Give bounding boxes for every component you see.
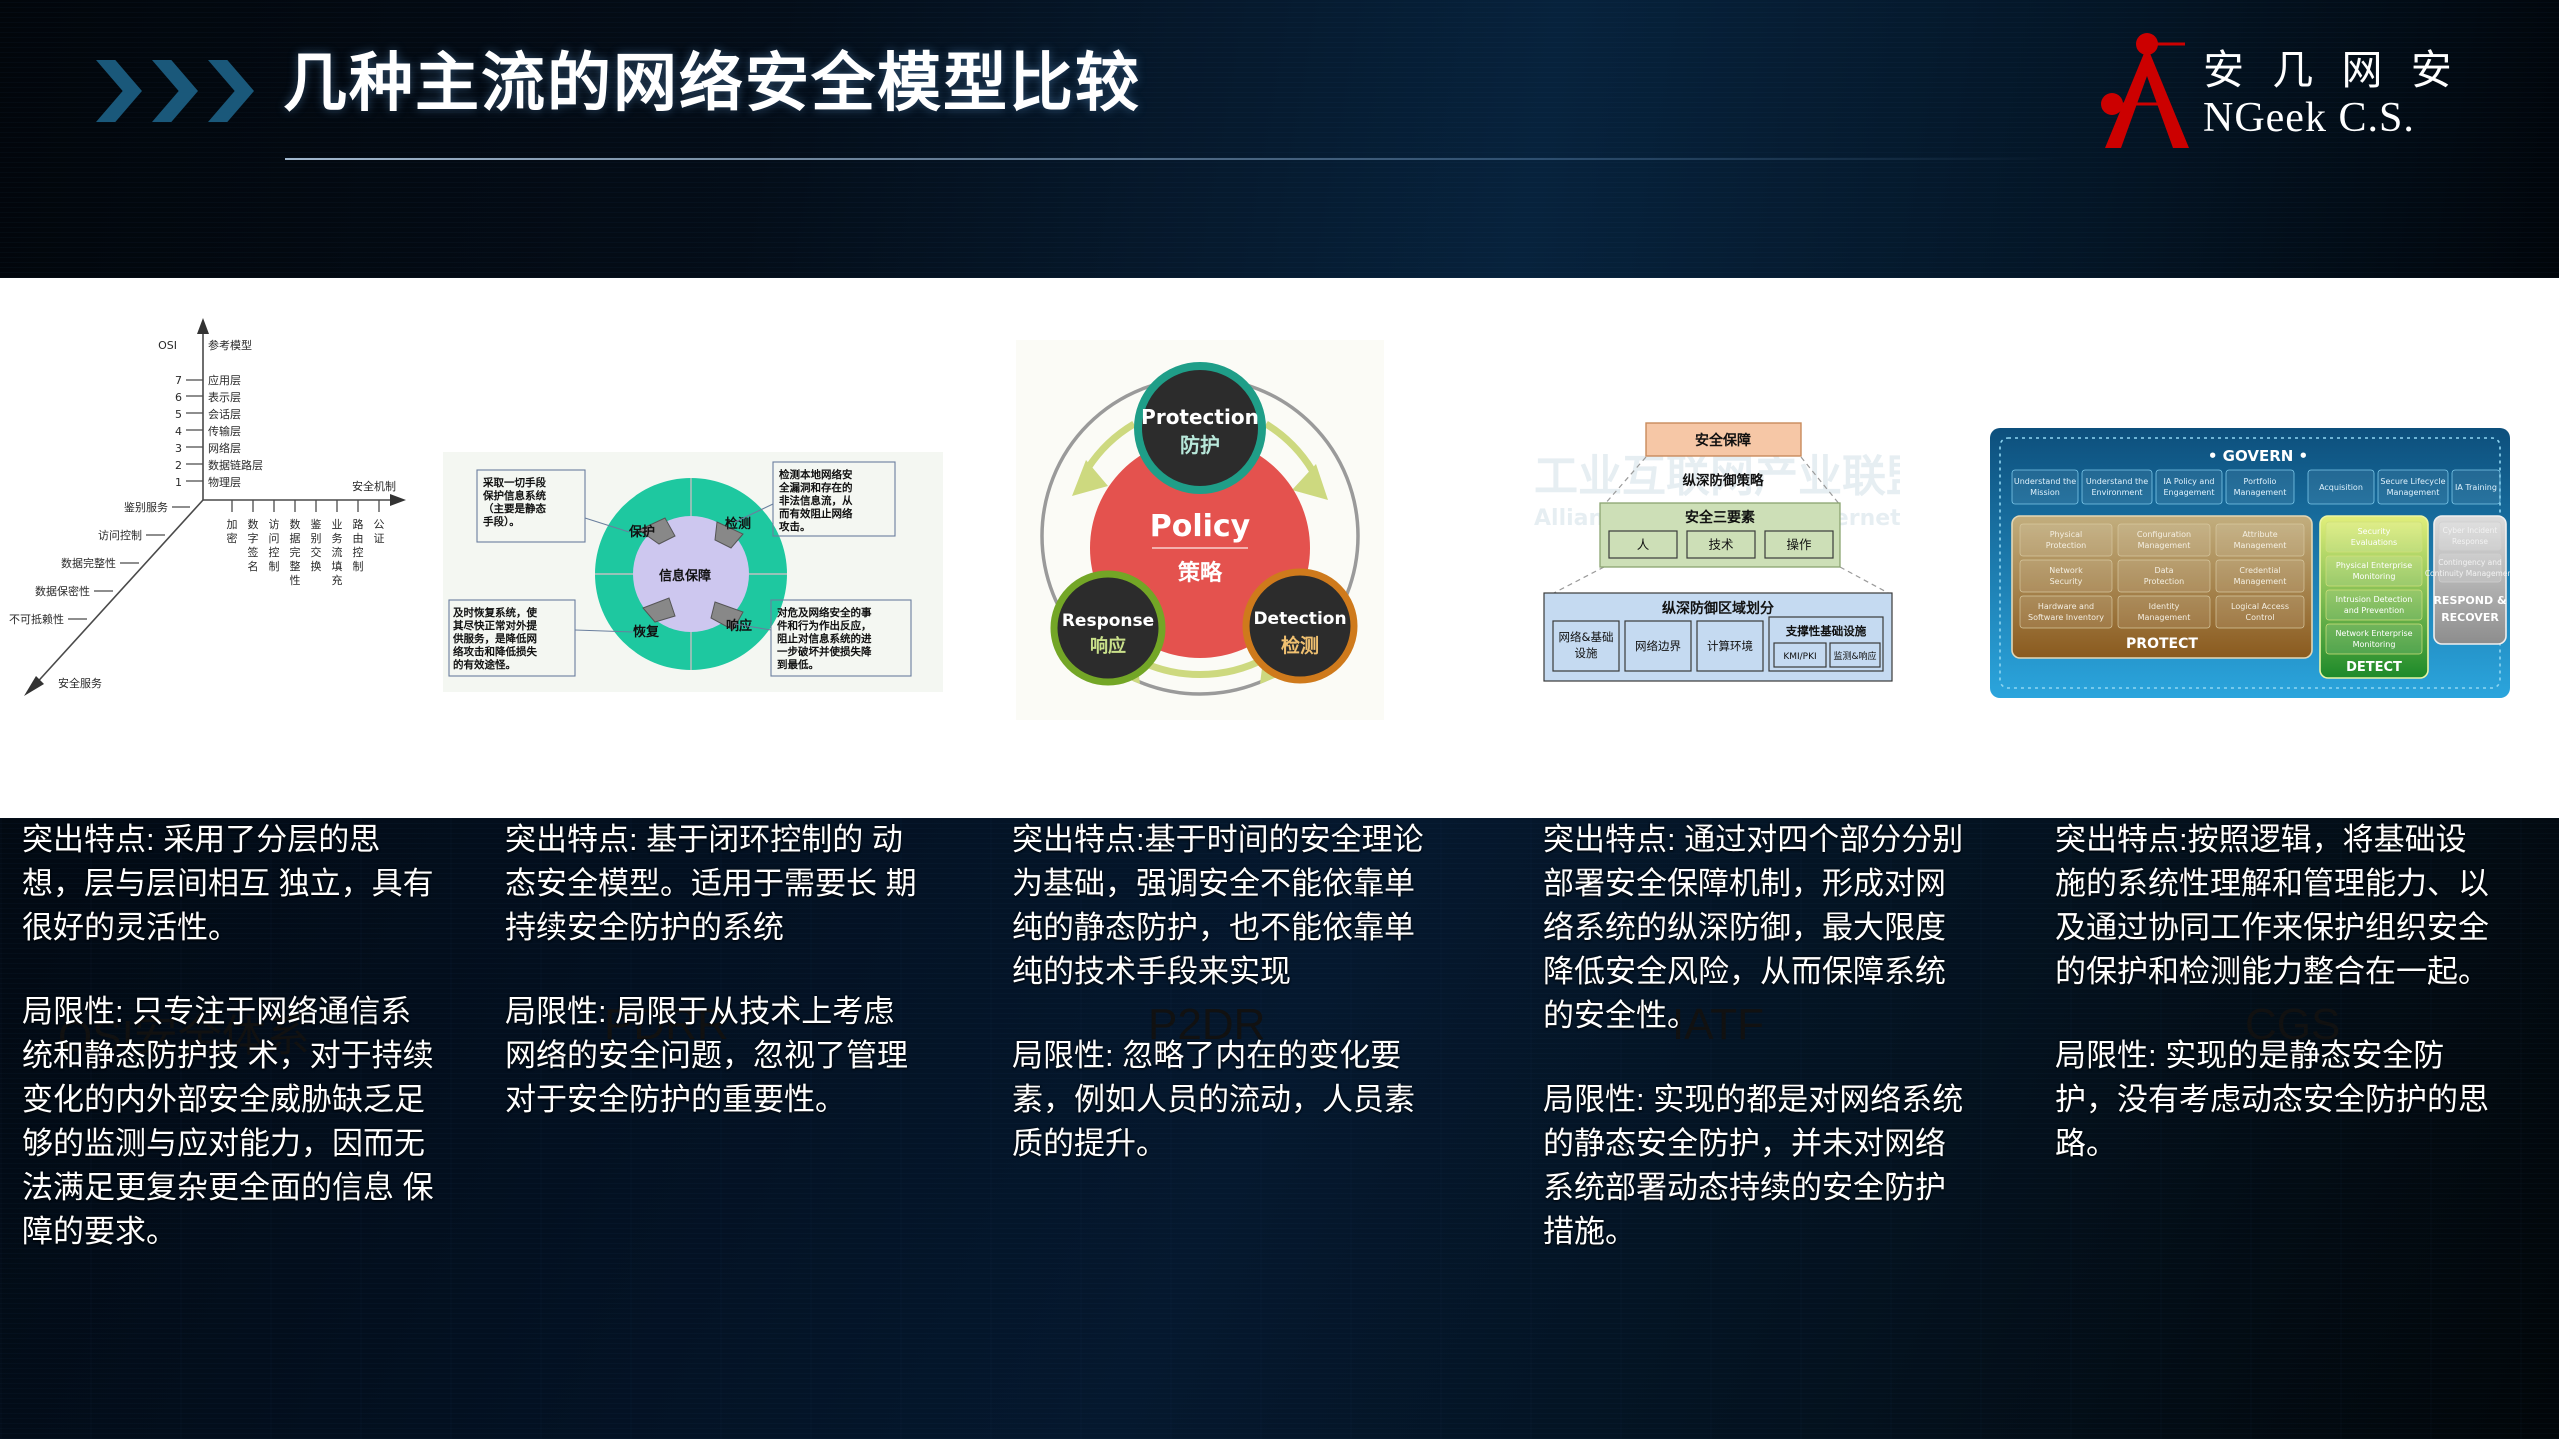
svg-text:安全三要素: 安全三要素: [1685, 509, 1755, 526]
svg-text:的有效途怪。: 的有效途怪。: [453, 658, 516, 671]
svg-text:交: 交: [311, 545, 322, 559]
iatf-diagram: 工业互联网产业联盟 Alliance of Industrial Interne…: [1520, 405, 1900, 690]
svg-text:全漏洞和存在的: 全漏洞和存在的: [778, 481, 853, 494]
svg-text:应用层: 应用层: [208, 373, 241, 387]
diagrams-panel: OSI 参考模型 7应用层 6表示层 5会话层 4传输层 3网络层 2数据链路层…: [0, 278, 2559, 818]
svg-text:Network Enterprise: Network Enterprise: [2335, 629, 2412, 638]
svg-text:3: 3: [175, 442, 182, 455]
p2dr-highlight: 突出特点:基于时间的安全理论为基础，强调安全不能依靠单纯的静态防护，也不能依靠单…: [1012, 818, 1444, 994]
svg-text:检测: 检测: [1281, 634, 1319, 657]
svg-text:整: 整: [290, 559, 301, 573]
svg-text:手段）。: 手段）。: [483, 515, 520, 528]
svg-text:Management: Management: [2234, 577, 2287, 586]
svg-text:纵深防御区域划分: 纵深防御区域划分: [1662, 600, 1774, 617]
svg-text:响应: 响应: [1090, 635, 1126, 657]
svg-text:阻止对信息系统的进: 阻止对信息系统的进: [777, 632, 872, 645]
svg-text:恢复: 恢复: [633, 624, 660, 640]
svg-text:及时恢复系统，使: 及时恢复系统，使: [453, 606, 537, 619]
svg-text:Data: Data: [2154, 566, 2173, 575]
svg-text:Evaluations: Evaluations: [2351, 538, 2397, 547]
svg-text:数据链路层: 数据链路层: [208, 458, 263, 472]
svg-text:防护: 防护: [1180, 433, 1220, 457]
figure-pdrr-model: 保护 检测 恢复 响应 信息保障 采取一切手段保护信: [443, 452, 943, 692]
svg-text:名: 名: [248, 559, 259, 573]
svg-text:安全服务: 安全服务: [58, 676, 102, 690]
svg-text:Credential: Credential: [2239, 566, 2280, 575]
svg-text:纵深防御策略: 纵深防御策略: [1683, 472, 1764, 489]
svg-text:访问控制: 访问控制: [98, 528, 142, 542]
svg-text:Management: Management: [2387, 488, 2440, 497]
svg-text:6: 6: [175, 391, 182, 404]
pdrr-diagram: 保护 检测 恢复 响应 信息保障 采取一切手段保护信: [443, 452, 943, 692]
svg-text:Environment: Environment: [2091, 488, 2142, 497]
svg-text:Monitoring: Monitoring: [2353, 640, 2396, 649]
svg-text:会话层: 会话层: [208, 408, 241, 421]
svg-text:网络边界: 网络边界: [1635, 639, 1681, 653]
svg-text:Understand the: Understand the: [2086, 477, 2148, 486]
svg-text:计算环境: 计算环境: [1707, 639, 1753, 653]
svg-text:网络层: 网络层: [208, 441, 241, 455]
svg-text:Monitoring: Monitoring: [2353, 572, 2396, 581]
svg-text:鉴别服务: 鉴别服务: [124, 501, 168, 514]
p2dr-diagram: Protection 防护 Response 响应 Detection 检测 P…: [1016, 340, 1384, 720]
svg-text:RESPOND &: RESPOND &: [2433, 594, 2506, 607]
svg-text:证: 证: [374, 532, 385, 545]
description-pdrr: 突出特点: 基于闭环控制的 动态安全模型。适用于需要长 期持续安全防护的系统 局…: [505, 818, 925, 1122]
logo-a-mark-icon: [2085, 32, 2211, 150]
svg-text:Contingency and: Contingency and: [2438, 558, 2502, 567]
cgs-highlight: 突出特点:按照逻辑，将基础设施的系统性理解和管理能力、以及通过协同工作来保护组织…: [2055, 818, 2495, 994]
svg-text:Control: Control: [2246, 613, 2275, 622]
svg-text:到最低。: 到最低。: [777, 658, 819, 671]
svg-text:5: 5: [175, 408, 182, 421]
svg-text:络攻击和降低损失: 络攻击和降低损失: [453, 645, 537, 658]
svg-text:Portfolio: Portfolio: [2244, 477, 2277, 486]
svg-text:字: 字: [248, 531, 259, 545]
svg-text:加: 加: [227, 518, 238, 531]
svg-text:检测本地网络安: 检测本地网络安: [779, 468, 853, 481]
svg-text:数据完整性: 数据完整性: [61, 556, 116, 570]
svg-text:Network: Network: [2049, 566, 2083, 575]
svg-text:传输层: 传输层: [208, 424, 241, 438]
logo-text-en: NGeek C.S.: [2203, 94, 2461, 142]
page-title: 几种主流的网络安全模型比较: [283, 32, 1141, 124]
svg-text:不可抵赖性: 不可抵赖性: [9, 612, 64, 626]
svg-text:策略: 策略: [1178, 560, 1223, 586]
svg-text:2: 2: [175, 459, 182, 472]
p2dr-limitation: 局限性: 忽略了内在的变化要素，例如人员的流动，人员素质的提升。: [1012, 1034, 1444, 1166]
svg-text:别: 别: [311, 532, 322, 545]
svg-text:参考模型: 参考模型: [208, 338, 252, 352]
svg-text:其尽快正常对外提: 其尽快正常对外提: [453, 619, 537, 632]
svg-text:Mission: Mission: [2030, 488, 2060, 497]
svg-text:• GOVERN •: • GOVERN •: [2208, 447, 2308, 465]
brand-logo: 安 几 网 安 NGeek C.S.: [2085, 28, 2485, 148]
svg-text:信息保障: 信息保障: [659, 568, 711, 584]
svg-text:保护信息系统: 保护信息系统: [482, 489, 546, 502]
iatf-highlight: 突出特点: 通过对四个部分分别部署安全保障机制，形成对网络系统的纵深防御，最大限…: [1543, 818, 1973, 1038]
svg-text:Management: Management: [2138, 613, 2191, 622]
osi-limitation: 局限性: 只专注于网络通信系统和静态防护技 术，对于持续变化的内外部安全威胁缺乏…: [22, 990, 442, 1254]
svg-text:安全保障: 安全保障: [1695, 432, 1751, 449]
svg-text:RECOVER: RECOVER: [2441, 611, 2499, 624]
svg-text:Secure Lifecycle: Secure Lifecycle: [2380, 477, 2445, 486]
svg-text:Physical Enterprise: Physical Enterprise: [2336, 561, 2412, 570]
svg-text:攻击。: 攻击。: [779, 520, 811, 533]
svg-text:人: 人: [1637, 537, 1650, 552]
svg-text:Protection: Protection: [2046, 541, 2086, 550]
svg-text:物理层: 物理层: [208, 475, 241, 489]
svg-text:网络&基础: 网络&基础: [1559, 630, 1614, 644]
osi-highlight: 突出特点: 采用了分层的思想，层与层间相互 独立，具有很好的灵活性。: [22, 818, 442, 950]
svg-text:Security: Security: [2358, 527, 2391, 536]
figure-iatf-model: 工业互联网产业联盟 Alliance of Industrial Interne…: [1520, 405, 1900, 690]
description-iatf: 突出特点: 通过对四个部分分别部署安全保障机制，形成对网络系统的纵深防御，最大限…: [1543, 818, 1973, 1254]
svg-text:由: 由: [353, 531, 364, 545]
svg-text:业: 业: [332, 518, 343, 531]
svg-text:制: 制: [269, 560, 280, 573]
cgs-diagram: • GOVERN • Understand theMission Underst…: [1990, 428, 2510, 698]
cgs-limitation: 局限性: 实现的是静态安全防护，没有考虑动态安全防护的思路。: [2055, 1034, 2495, 1166]
figure-osi-security-architecture: OSI 参考模型 7应用层 6表示层 5会话层 4传输层 3网络层 2数据链路层…: [0, 300, 430, 710]
svg-text:对危及网络安全的事: 对危及网络安全的事: [777, 606, 872, 619]
svg-text:4: 4: [175, 425, 182, 438]
svg-text:Protection: Protection: [1141, 405, 1259, 429]
svg-text:性: 性: [290, 573, 301, 587]
svg-text:Response: Response: [1062, 611, 1154, 631]
svg-text:Logical Access: Logical Access: [2231, 602, 2289, 611]
svg-text:Identity: Identity: [2149, 602, 2180, 611]
figure-cgs-model: • GOVERN • Understand theMission Underst…: [1990, 428, 2510, 698]
svg-text:and Prevention: and Prevention: [2344, 606, 2404, 615]
svg-text:采取一切手段: 采取一切手段: [482, 476, 546, 489]
chevrons-right-icon: [96, 60, 254, 122]
svg-text:检测: 检测: [725, 516, 751, 532]
svg-text:问: 问: [269, 532, 280, 545]
svg-text:操作: 操作: [1786, 537, 1812, 552]
svg-text:Attribute: Attribute: [2242, 530, 2277, 539]
slide-header: 几种主流的网络安全模型比较 安 几 网 安 NGeek C.S.: [0, 0, 2559, 278]
svg-text:Cyber Incident: Cyber Incident: [2443, 526, 2498, 535]
svg-text:制: 制: [353, 560, 364, 573]
iatf-limitation: 局限性: 实现的都是对网络系统的静态安全防护，并未对网络系统部署动态持续的安全防…: [1543, 1078, 1973, 1254]
svg-text:DETECT: DETECT: [2346, 660, 2402, 675]
svg-text:Software Inventory: Software Inventory: [2028, 613, 2104, 622]
logo-text-cn: 安 几 网 安: [2203, 36, 2461, 96]
description-p2dr: 突出特点:基于时间的安全理论为基础，强调安全不能依靠单纯的静态防护，也不能依靠单…: [1012, 818, 1444, 1166]
svg-text:控: 控: [353, 545, 364, 559]
svg-text:（主要是静态: （主要是静态: [483, 502, 546, 515]
svg-text:PROTECT: PROTECT: [2126, 636, 2198, 652]
svg-text:Detection: Detection: [1253, 609, 1346, 629]
pdrr-limitation: 局限性: 局限于从技术上考虑网络的安全问题，忽视了管理对于安全防护的重要性。: [505, 990, 925, 1122]
svg-text:Security: Security: [2050, 577, 2083, 586]
svg-text:而有效阻止网络: 而有效阻止网络: [779, 507, 853, 520]
svg-text:充: 充: [332, 573, 343, 587]
svg-text:Engagement: Engagement: [2163, 488, 2214, 497]
svg-text:Management: Management: [2234, 541, 2287, 550]
svg-text:填: 填: [332, 559, 343, 573]
svg-text:IA Policy and: IA Policy and: [2164, 477, 2215, 486]
svg-text:设施: 设施: [1575, 646, 1598, 660]
svg-text:路: 路: [353, 518, 364, 531]
svg-text:数据保密性: 数据保密性: [35, 584, 90, 598]
svg-text:Acquisition: Acquisition: [2319, 483, 2363, 492]
svg-text:安全机制: 安全机制: [352, 479, 396, 493]
svg-text:件和行为作出反应，: 件和行为作出反应，: [777, 619, 872, 632]
svg-text:Management: Management: [2234, 488, 2287, 497]
svg-text:1: 1: [175, 476, 182, 489]
svg-text:换: 换: [311, 559, 322, 573]
svg-text:一步破坏并使损失降: 一步破坏并使损失降: [777, 645, 872, 658]
descriptions-row: 突出特点: 采用了分层的思想，层与层间相互 独立，具有很好的灵活性。 局限性: …: [0, 818, 2559, 1439]
slide-root: 几种主流的网络安全模型比较 安 几 网 安 NGeek C.S.: [0, 0, 2559, 1439]
svg-text:Protection: Protection: [2144, 577, 2184, 586]
svg-text:数: 数: [248, 518, 259, 531]
svg-text:Policy: Policy: [1150, 509, 1251, 544]
svg-text:供服务，是降低网: 供服务，是降低网: [452, 632, 537, 645]
svg-text:Hardware and: Hardware and: [2038, 602, 2094, 611]
svg-text:Configuration: Configuration: [2137, 530, 2191, 539]
svg-text:控: 控: [269, 545, 280, 559]
svg-text:技术: 技术: [1708, 537, 1734, 552]
svg-text:完: 完: [290, 545, 301, 559]
svg-text:签: 签: [248, 545, 259, 559]
svg-text:数: 数: [290, 518, 301, 531]
svg-text:Management: Management: [2138, 541, 2191, 550]
svg-text:KMI/PKI: KMI/PKI: [1783, 652, 1816, 662]
svg-text:表示层: 表示层: [208, 390, 241, 404]
description-cgs: 突出特点:按照逻辑，将基础设施的系统性理解和管理能力、以及通过协同工作来保护组织…: [2055, 818, 2495, 1166]
svg-text:Response: Response: [2452, 537, 2488, 546]
description-osi: 突出特点: 采用了分层的思想，层与层间相互 独立，具有很好的灵活性。 局限性: …: [22, 818, 442, 1254]
svg-text:据: 据: [290, 531, 301, 545]
svg-text:密: 密: [227, 531, 238, 545]
svg-text:Continuity Management: Continuity Management: [2425, 569, 2510, 578]
svg-text:Understand the: Understand the: [2014, 477, 2076, 486]
osi-axes-diagram: OSI 参考模型 7应用层 6表示层 5会话层 4传输层 3网络层 2数据链路层…: [0, 300, 430, 710]
svg-text:鉴: 鉴: [311, 518, 322, 531]
pdrr-highlight: 突出特点: 基于闭环控制的 动态安全模型。适用于需要长 期持续安全防护的系统: [505, 818, 925, 950]
svg-text:保护: 保护: [628, 524, 655, 540]
svg-text:流: 流: [332, 545, 343, 559]
svg-text:访: 访: [269, 518, 280, 531]
figure-p2dr-model: Protection 防护 Response 响应 Detection 检测 P…: [1016, 340, 1384, 720]
header-divider: [285, 158, 2065, 160]
svg-text:监测&响应: 监测&响应: [1833, 650, 1876, 662]
svg-text:支撑性基础设施: 支撑性基础设施: [1785, 624, 1867, 638]
svg-text:Physical: Physical: [2050, 530, 2083, 539]
svg-text:务: 务: [332, 532, 343, 545]
svg-text:公: 公: [374, 518, 385, 531]
svg-text:IA Training: IA Training: [2455, 483, 2497, 492]
svg-text:Intrusion Detection: Intrusion Detection: [2336, 595, 2413, 604]
svg-text:非法信息流，从: 非法信息流，从: [779, 494, 853, 507]
svg-text:OSI: OSI: [158, 339, 177, 352]
svg-text:7: 7: [175, 374, 182, 387]
